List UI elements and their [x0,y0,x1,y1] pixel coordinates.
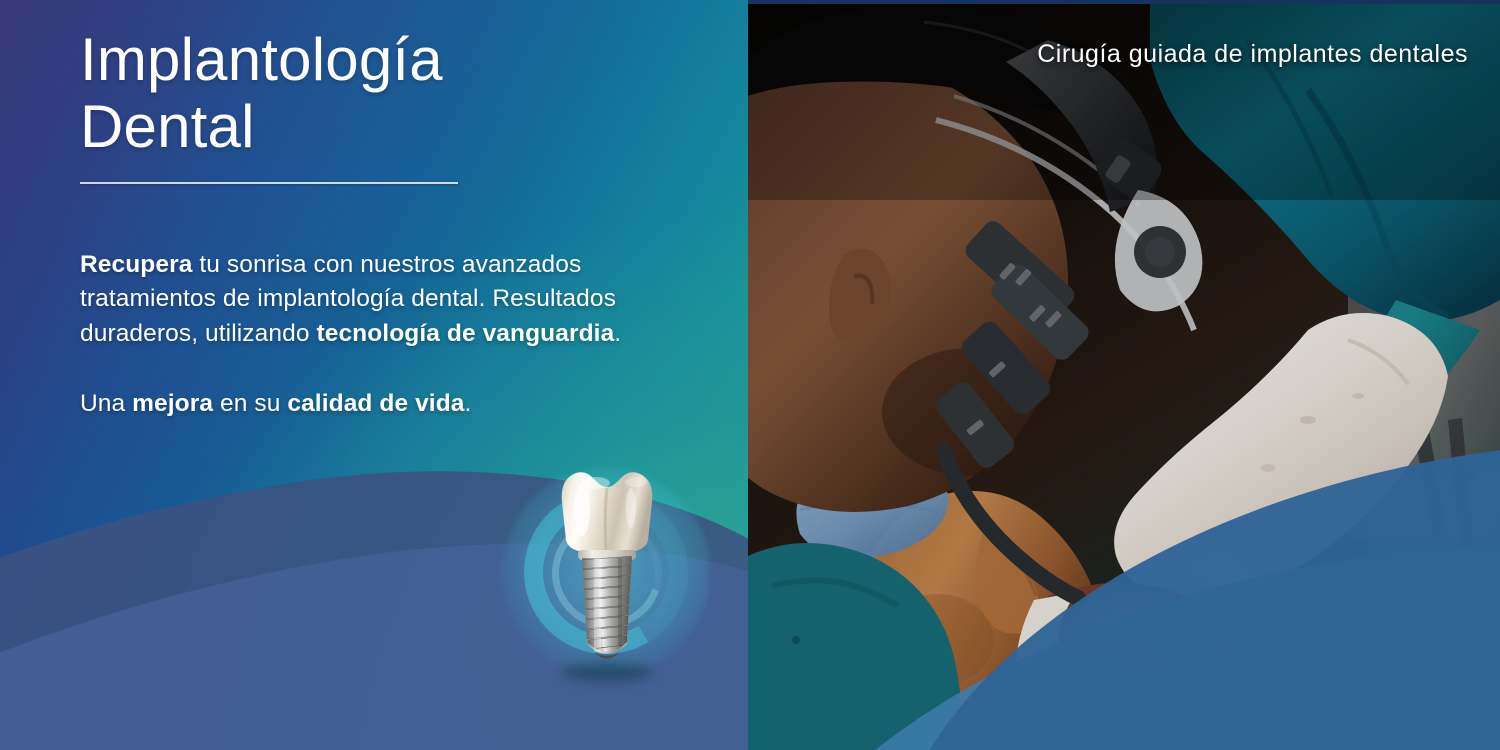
body-paragraph-2: Una mejora en su calidad de vida. [80,387,720,421]
body-p2-bold-b: calidad de vida [287,390,464,417]
body-copy-block: Recupera tu sonrisa con nuestros avanzad… [80,248,720,421]
body-p1-bold-b: tecnología de vanguardia [316,320,614,347]
body-p2-text-a: Una [80,390,132,417]
title-divider-rule [80,182,458,184]
page-title: Implantología Dental [80,26,700,160]
photo-caption: Cirugía guiada de implantes dentales [1037,40,1468,69]
photo-top-border [748,0,1500,4]
dental-implant-icon [538,466,676,676]
dental-implant-graphic [494,462,720,694]
body-p2-text-b: en su [213,390,287,417]
body-p2-bold-a: mejora [132,390,213,417]
surgery-photo-panel: Cirugía guiada de implantes dentales [748,0,1500,750]
body-p1-lead-bold: Recupera [80,251,192,278]
title-block: Implantología Dental [80,26,700,184]
body-p1-text-c: . [614,320,621,347]
body-p2-text-c: . [465,390,472,417]
promo-slide: Implantología Dental Recupera tu sonrisa… [0,0,1500,750]
implant-screw [578,556,636,659]
body-paragraph-1: Recupera tu sonrisa con nuestros avanzad… [80,248,720,351]
